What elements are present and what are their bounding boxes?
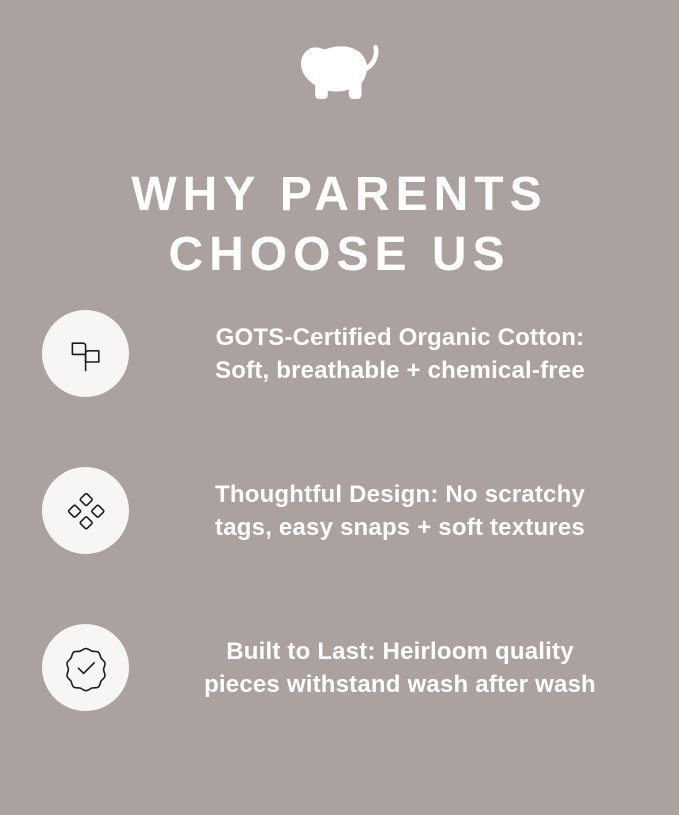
list-item: GOTS-Certified Organic Cotton: Soft, bre… [0,300,679,407]
brand-logo [0,38,679,110]
elephant-logo-icon [294,43,386,105]
list-item: Built to Last: Heirloom quality pieces w… [0,614,679,721]
page-title: WHY PARENTS CHOOSE US [0,165,679,285]
why-parents-choose-us-panel: WHY PARENTS CHOOSE US GOTS-Certified Org… [0,0,679,815]
sprout-leaf-icon [42,310,129,397]
four-diamonds-icon [42,467,129,554]
feature-text: Built to Last: Heirloom quality pieces w… [150,635,650,701]
list-item: Thoughtful Design: No scratchy tags, eas… [0,457,679,564]
scalloped-check-badge-icon [42,624,129,711]
feature-text: Thoughtful Design: No scratchy tags, eas… [150,478,650,544]
feature-text: GOTS-Certified Organic Cotton: Soft, bre… [150,321,650,387]
feature-list: GOTS-Certified Organic Cotton: Soft, bre… [0,300,679,721]
